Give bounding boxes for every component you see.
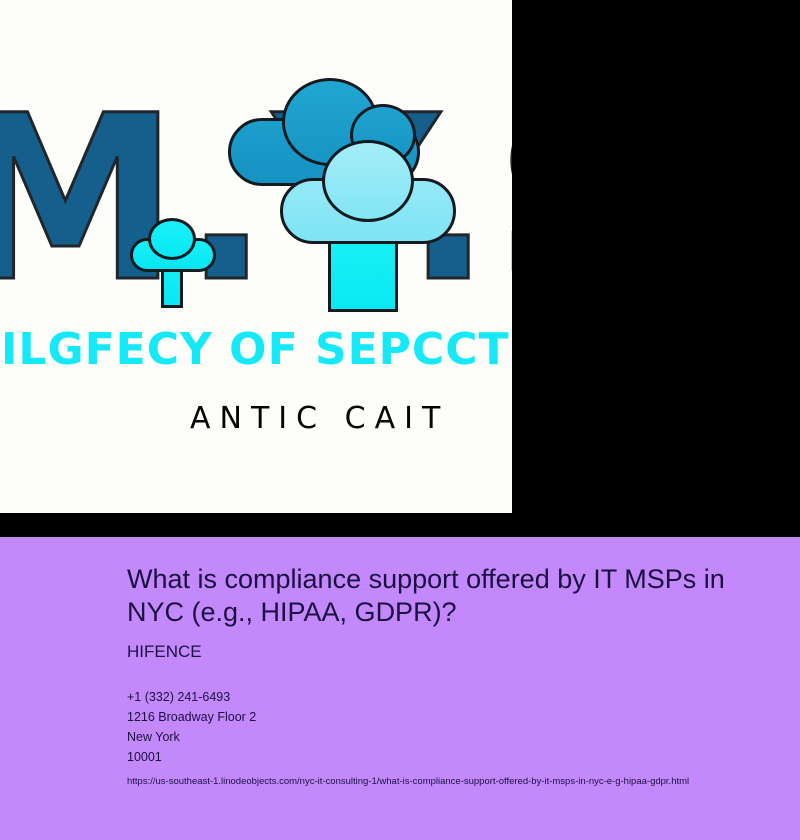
cloud-front-icon xyxy=(280,140,456,312)
cloud-small-icon xyxy=(130,218,216,308)
contact-city: New York xyxy=(127,727,792,747)
content-panel: What is compliance support offered by IT… xyxy=(0,537,800,840)
logo-stage: M.Y.S AILGFECY OF SEPCCT ANTIC CAIT xyxy=(0,0,512,513)
contact-phone: +1 (332) 241-6493 xyxy=(127,687,792,707)
cloud-front-puff xyxy=(322,140,414,222)
logo-tagline-cyan: AILGFECY OF SEPCCT xyxy=(0,325,512,375)
source-url: https://us-southeast-1.linodeobjects.com… xyxy=(127,767,792,789)
contact-zip: 10001 xyxy=(127,747,792,767)
contact-block: +1 (332) 241-6493 1216 Broadway Floor 2 … xyxy=(127,663,792,767)
contact-street: 1216 Broadway Floor 2 xyxy=(127,707,792,727)
logo-tagline-black: ANTIC CAIT xyxy=(190,400,512,438)
content-panel-inner: What is compliance support offered by IT… xyxy=(127,537,792,789)
page-root: M.Y.S AILGFECY OF SEPCCT ANTIC CAIT xyxy=(0,0,800,840)
hero-logo-image: M.Y.S AILGFECY OF SEPCCT ANTIC CAIT xyxy=(0,0,512,513)
brand-name: HIFENCE xyxy=(127,629,792,663)
cloud-small-puff xyxy=(148,218,196,260)
page-title: What is compliance support offered by IT… xyxy=(127,537,727,629)
